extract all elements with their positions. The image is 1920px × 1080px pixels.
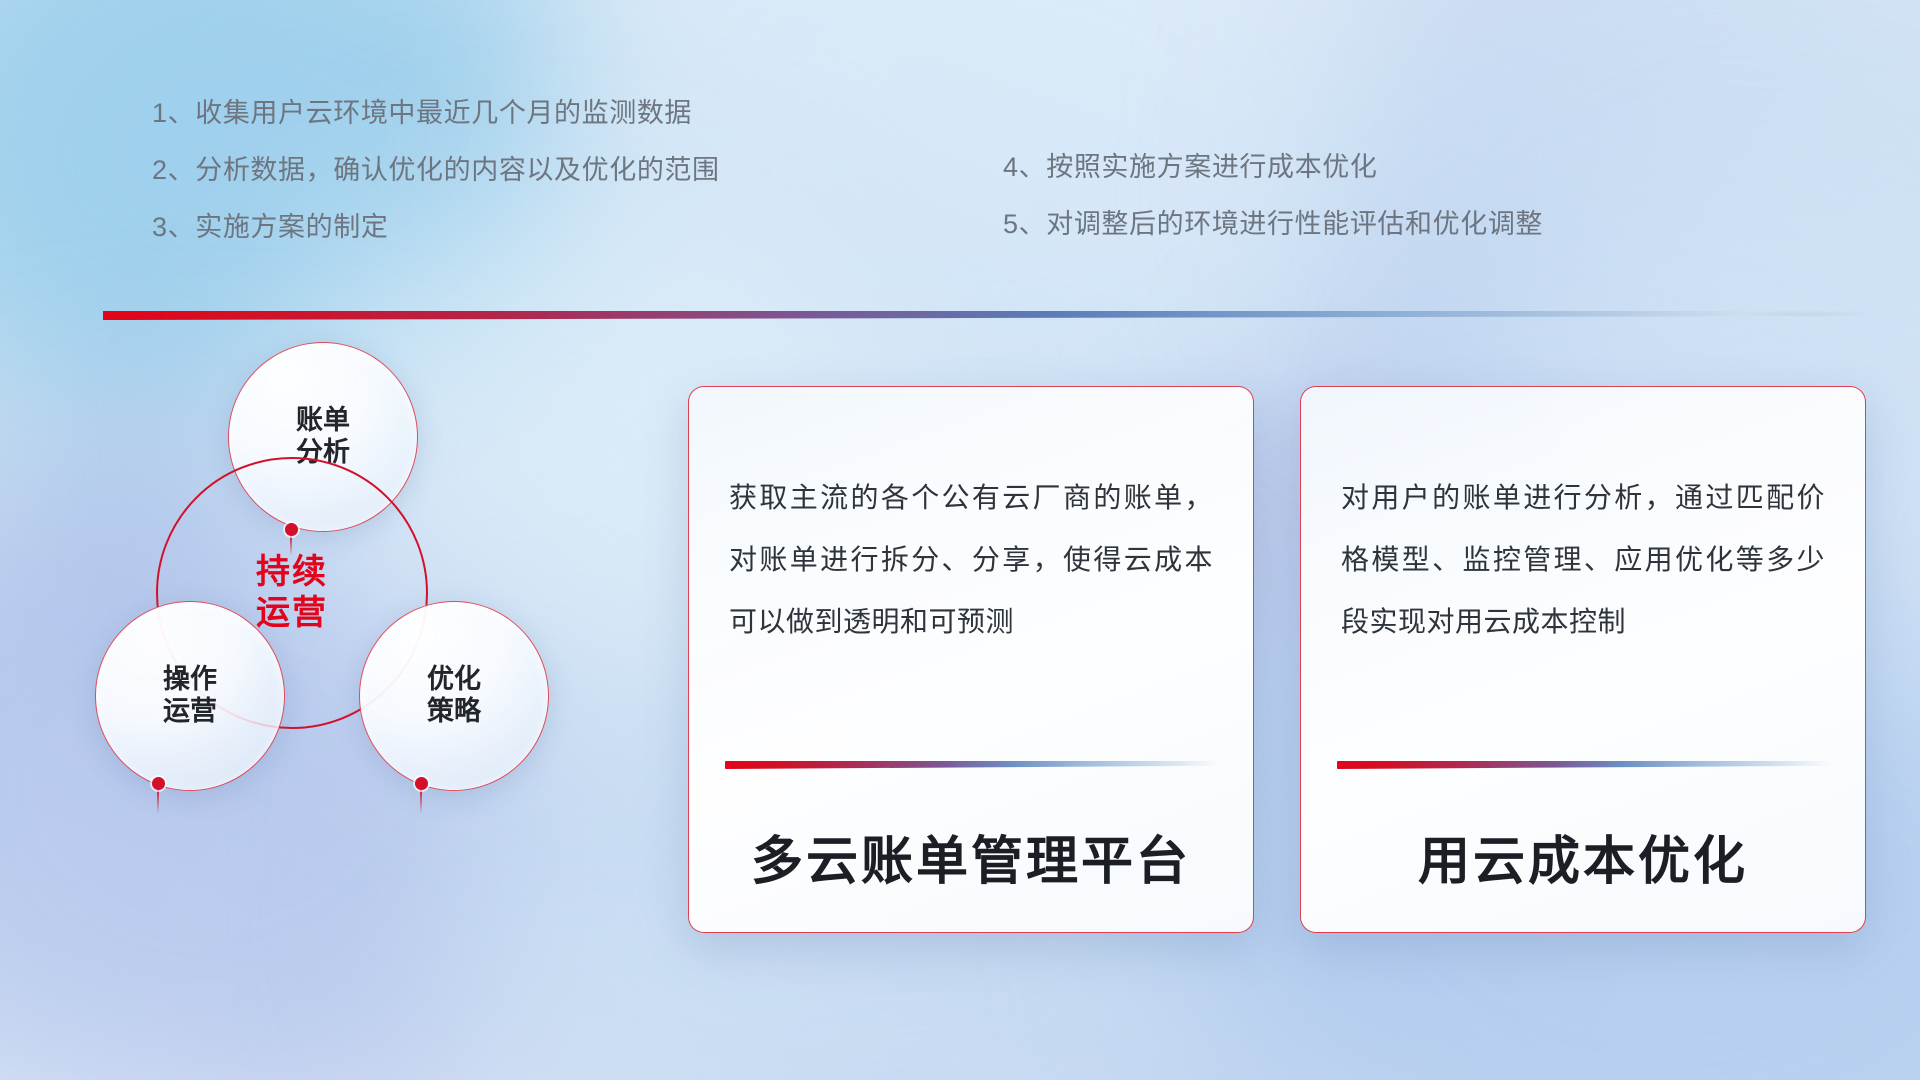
info-card-1-divider (725, 761, 1219, 769)
venn-lobe-top-line1: 账单 (296, 405, 350, 435)
venn-stem-right (420, 788, 422, 814)
venn-lobe-right-label: 优化策略 (427, 664, 481, 728)
venn-stem-left (157, 788, 159, 814)
step-item-4: 4、按照实施方案进行成本优化 (1003, 154, 1543, 181)
step-item-1: 1、收集用户云环境中最近几个月的监测数据 (152, 100, 720, 127)
venn-center-label: 持续运营 (156, 457, 428, 729)
steps-right-column: 4、按照实施方案进行成本优化 5、对调整后的环境进行性能评估和优化调整 (1003, 154, 1543, 268)
step-item-3: 3、实施方案的制定 (152, 214, 720, 241)
info-card-2-divider (1337, 761, 1831, 769)
info-card-1-body: 获取主流的各个公有云厂商的账单，对账单进行拆分、分享，使得云成本可以做到透明和可… (729, 467, 1213, 653)
venn-lobe-right-line2: 策略 (427, 696, 481, 726)
info-card-cloud-cost-optimization[interactable]: 对用户的账单进行分析，通过匹配价格模型、监控管理、应用优化等多少段实现对用云成本… (1300, 386, 1866, 933)
venn-center-line1: 持续 (256, 553, 328, 591)
info-card-1-title: 多云账单管理平台 (689, 819, 1253, 894)
venn-center-text: 持续运营 (256, 552, 328, 635)
venn-stem-top (290, 534, 292, 556)
venn-lobe-right-line1: 优化 (427, 664, 481, 694)
continuous-operation-venn-diagram: 账单分析 操作运营 优化策略 持续运营 (100, 352, 660, 952)
info-card-multicloud-billing[interactable]: 获取主流的各个公有云厂商的账单，对账单进行拆分、分享，使得云成本可以做到透明和可… (688, 386, 1254, 933)
venn-center-line2: 运营 (256, 594, 328, 632)
info-card-2-body: 对用户的账单进行分析，通过匹配价格模型、监控管理、应用优化等多少段实现对用云成本… (1341, 467, 1825, 653)
step-item-2: 2、分析数据，确认优化的内容以及优化的范围 (152, 157, 720, 184)
step-item-5: 5、对调整后的环境进行性能评估和优化调整 (1003, 211, 1543, 238)
venn-node-right-icon (415, 777, 428, 790)
venn-node-top-icon (285, 523, 298, 536)
venn-node-left-icon (152, 777, 165, 790)
info-card-2-title: 用云成本优化 (1301, 819, 1865, 894)
steps-left-column: 1、收集用户云环境中最近几个月的监测数据 2、分析数据，确认优化的内容以及优化的… (152, 100, 720, 271)
